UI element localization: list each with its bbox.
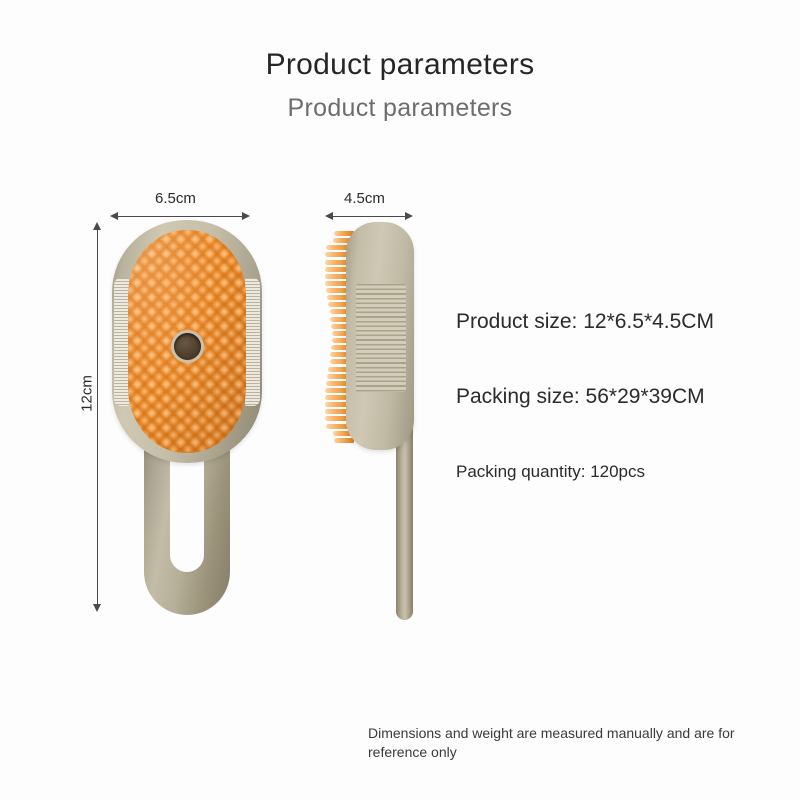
arrowhead-left-width-front (110, 212, 118, 220)
page-subtitle: Product parameters (0, 94, 800, 123)
arrowhead-bottom-height (93, 604, 101, 612)
center-spray-hole (174, 333, 201, 360)
bristle (334, 438, 354, 443)
front-shell (112, 220, 262, 463)
dimension-label-width-side: 4.5cm (344, 190, 385, 207)
arrowhead-left-width-side (325, 212, 333, 220)
side-grip-ribs (356, 284, 406, 392)
front-grip-right (245, 278, 260, 406)
product-front-view (112, 220, 262, 615)
dimension-line-height (97, 230, 98, 604)
spec-packing-size: Packing size: 56*29*39CM (456, 385, 705, 409)
dimension-label-height: 12cm (79, 369, 96, 419)
footer-disclaimer: Dimensions and weight are measured manua… (368, 724, 788, 762)
front-grip-left (114, 278, 129, 406)
arrowhead-right-width-front (242, 212, 250, 220)
product-side-view (318, 222, 448, 622)
dimension-line-width-side (333, 216, 405, 217)
dimension-label-width-front: 6.5cm (155, 190, 196, 207)
dimension-line-width-front (118, 216, 242, 217)
product-parameters-page: Product parameters Product parameters 6.… (0, 0, 800, 800)
arrowhead-top-height (93, 222, 101, 230)
arrowhead-right-width-side (405, 212, 413, 220)
spec-product-size: Product size: 12*6.5*4.5CM (456, 310, 714, 334)
side-shell (346, 222, 414, 450)
page-title: Product parameters (0, 48, 800, 82)
spec-packing-quantity: Packing quantity: 120pcs (456, 462, 645, 482)
